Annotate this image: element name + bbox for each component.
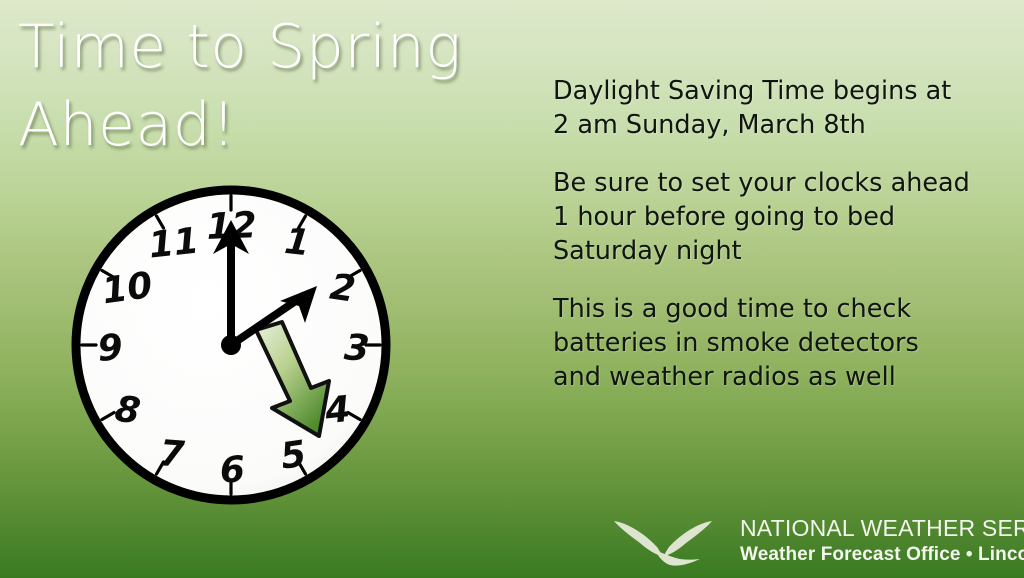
- clock-numeral-7: 7: [158, 433, 186, 476]
- clock-numeral-11: 11: [147, 221, 201, 267]
- clock-numeral-9: 9: [96, 327, 124, 370]
- poster-canvas: Time to Spring Ahead!: [0, 0, 1024, 578]
- nws-footer: NATIONAL WEATHER SERVICE Weather Forecas…: [612, 510, 1024, 574]
- clock-numeral-10: 10: [100, 265, 155, 313]
- nws-bird-logo: [612, 514, 730, 570]
- message-dst-begins: Daylight Saving Time begins at 2 am Sund…: [553, 74, 1023, 142]
- clock-numeral-6: 6: [219, 449, 246, 491]
- message-set-clocks: Be sure to set your clocks ahead 1 hour …: [553, 166, 1023, 268]
- analog-clock-illustration: 12 1 2 3 4 5 6 7 8 9 10 11: [68, 182, 394, 508]
- nws-agency-name: NATIONAL WEATHER SERVICE: [740, 517, 1024, 540]
- message-check-batteries: This is a good time to check batteries i…: [553, 292, 1023, 394]
- message-list: Daylight Saving Time begins at 2 am Sund…: [553, 74, 1023, 394]
- nws-footer-text: NATIONAL WEATHER SERVICE Weather Forecas…: [740, 517, 1024, 568]
- clock-numeral-1: 1: [283, 221, 312, 264]
- clock-numeral-3: 3: [343, 327, 371, 370]
- page-title: Time to Spring Ahead!: [18, 8, 538, 164]
- clock-center-hub: [221, 335, 241, 355]
- nws-office-name: Weather Forecast Office • Lincoln, IL: [740, 545, 1024, 564]
